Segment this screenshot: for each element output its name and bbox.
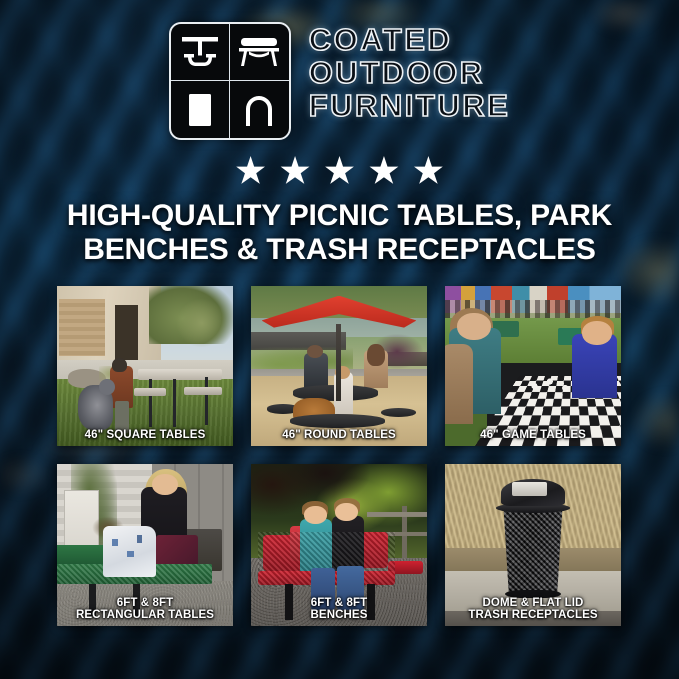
bike-rack-icon-glyph	[236, 91, 282, 129]
star-rating	[0, 156, 679, 191]
product-tile-benches[interactable]: 6FT & 8FT BENCHES	[251, 464, 427, 626]
caption-line-1: 46" ROUND TABLES	[282, 429, 396, 441]
trash-receptacle-icon-glyph	[177, 91, 223, 129]
bike-rack-icon	[230, 81, 289, 138]
product-photo-round-tables	[251, 286, 427, 446]
brand-logo-mark	[169, 22, 291, 140]
caption-line-2: BENCHES	[311, 609, 368, 621]
park-bench-icon	[230, 24, 289, 81]
picnic-table-icon	[171, 24, 230, 81]
caption-line-1: 46" GAME TABLES	[480, 429, 586, 441]
star-icon	[280, 156, 310, 186]
product-tile-square-tables[interactable]: 46" SQUARE TABLES	[57, 286, 233, 446]
headline-line-1: HIGH-QUALITY PICNIC TABLES, PARK	[67, 199, 612, 232]
product-caption: 46" GAME TABLES	[445, 429, 621, 442]
product-caption: 46" ROUND TABLES	[251, 429, 427, 442]
picnic-table-icon-glyph	[177, 33, 223, 71]
brand-header: COATED OUTDOOR FURNITURE	[0, 22, 679, 140]
trash-receptacle-icon	[171, 81, 230, 138]
wordmark-line-3: FURNITURE	[309, 90, 511, 122]
star-icon	[236, 156, 266, 186]
brand-wordmark: COATED OUTDOOR FURNITURE	[309, 22, 511, 122]
caption-line-2: RECTANGULAR TABLES	[76, 609, 214, 621]
caption-line-1: 6FT & 8FT	[311, 597, 368, 609]
wordmark-line-2: OUTDOOR	[309, 57, 511, 89]
product-caption: 6FT & 8FT RECTANGULAR TABLES	[57, 597, 233, 622]
star-icon	[369, 156, 399, 186]
product-grid: 46" SQUARE TABLES 46" ROUND TABLES	[57, 286, 622, 648]
park-bench-icon-glyph	[236, 33, 282, 71]
caption-line-1: 6FT & 8FT	[117, 597, 174, 609]
star-icon	[325, 156, 355, 186]
headline-line-2: BENCHES & TRASH RECEPTACLES	[0, 233, 679, 267]
product-photo-game-tables	[445, 286, 621, 446]
product-tile-trash-receptacles[interactable]: DOME & FLAT LID TRASH RECEPTACLES	[445, 464, 621, 626]
caption-line-1: DOME & FLAT LID	[483, 597, 584, 609]
page-title: HIGH-QUALITY PICNIC TABLES, PARK BENCHES…	[0, 199, 679, 267]
wordmark-line-1: COATED	[309, 24, 511, 56]
caption-line-1: 46" SQUARE TABLES	[85, 429, 206, 441]
product-caption: DOME & FLAT LID TRASH RECEPTACLES	[445, 597, 621, 622]
product-tile-game-tables[interactable]: 46" GAME TABLES	[445, 286, 621, 446]
product-caption: 6FT & 8FT BENCHES	[251, 597, 427, 622]
product-tile-round-tables[interactable]: 46" ROUND TABLES	[251, 286, 427, 446]
product-caption: 46" SQUARE TABLES	[57, 429, 233, 442]
advertisement-banner: COATED OUTDOOR FURNITURE HIGH-QUALITY PI…	[0, 0, 679, 679]
product-tile-rectangular-tables[interactable]: 6FT & 8FT RECTANGULAR TABLES	[57, 464, 233, 626]
caption-line-2: TRASH RECEPTACLES	[468, 609, 597, 621]
star-icon	[413, 156, 443, 186]
product-photo-square-tables	[57, 286, 233, 446]
